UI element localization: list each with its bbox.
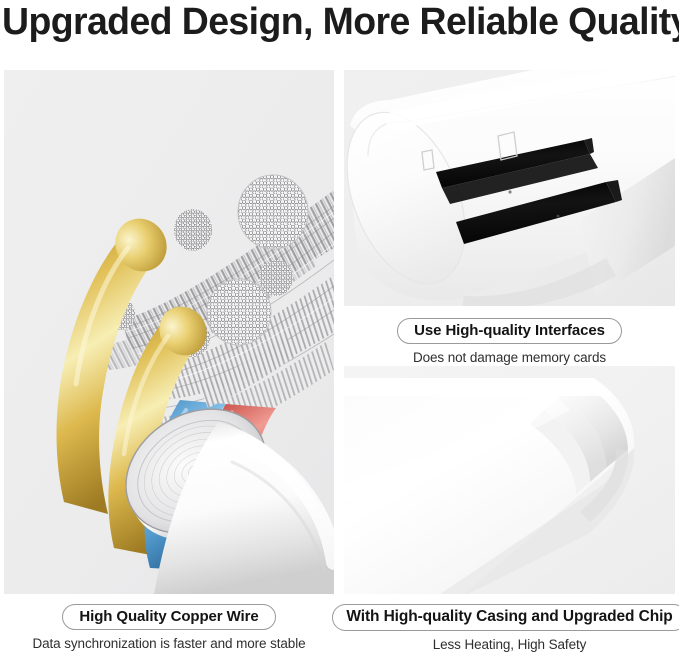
panel-casing xyxy=(344,366,675,594)
white-casing-edge-photo xyxy=(344,366,675,594)
caption-copper-wire: High Quality Copper Wire Data synchroniz… xyxy=(4,604,334,651)
badge-casing: With High-quality Casing and Upgraded Ch… xyxy=(332,604,679,631)
subtitle-casing: Less Heating, High Safety xyxy=(433,637,587,652)
badge-copper-wire: High Quality Copper Wire xyxy=(62,604,275,630)
panel-copper-wire xyxy=(4,70,334,594)
caption-casing: With High-quality Casing and Upgraded Ch… xyxy=(344,604,675,652)
panel-interfaces xyxy=(344,70,675,306)
cable-cross-section-photo xyxy=(4,70,334,594)
subtitle-interfaces: Does not damage memory cards xyxy=(413,350,606,365)
caption-interfaces: Use High-quality Interfaces Does not dam… xyxy=(344,318,675,365)
subtitle-copper-wire: Data synchronization is faster and more … xyxy=(32,636,305,651)
badge-interfaces: Use High-quality Interfaces xyxy=(397,318,622,344)
page-title: Upgraded Design, More Reliable Quality xyxy=(2,0,667,46)
infographic-page: Upgraded Design, More Reliable Quality xyxy=(0,0,679,651)
card-reader-slots-photo xyxy=(344,70,675,306)
